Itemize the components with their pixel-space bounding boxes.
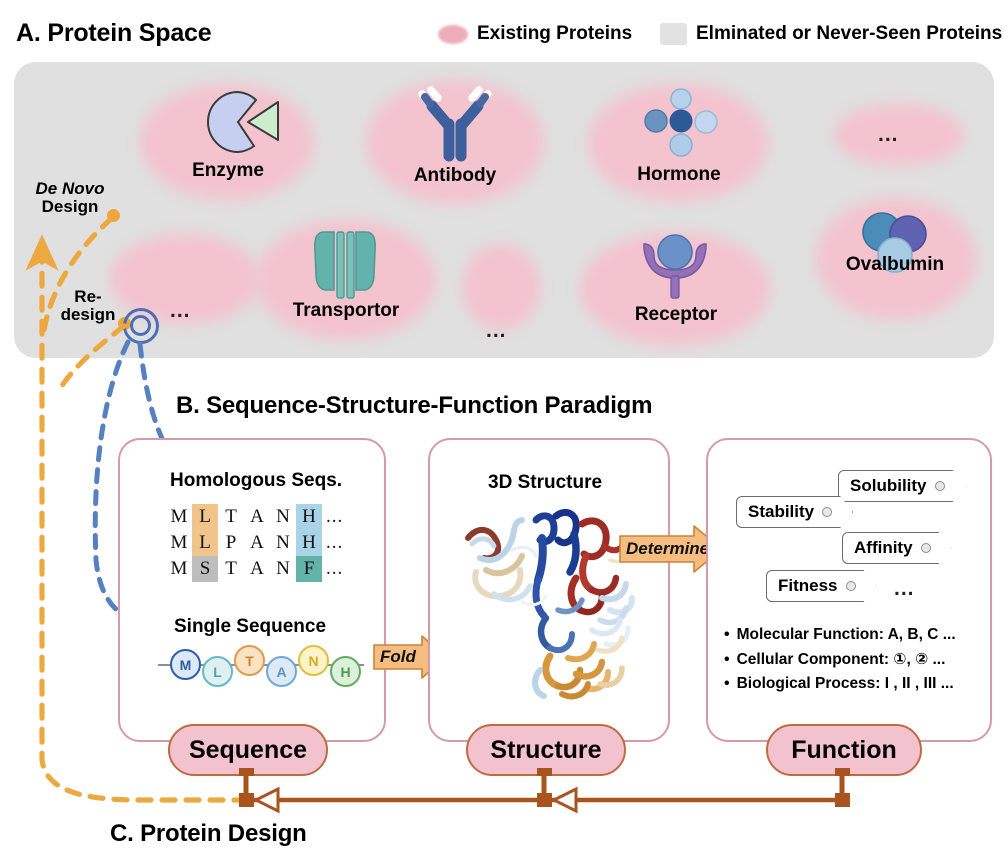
structure-panel-title: 3D Structure <box>488 472 602 494</box>
legend-existing-label: Existing Proteins <box>477 23 632 45</box>
panel-a-title: A. Protein Space <box>16 19 211 48</box>
panel-c-title: C. Protein Design <box>110 820 307 848</box>
antibody-icon <box>416 86 494 164</box>
alignment-trailing: ... <box>326 506 343 528</box>
hormone-icon <box>634 88 728 160</box>
alignment-cell: T <box>218 504 244 530</box>
single-sequence-beads: M L T A N H <box>158 645 368 687</box>
alignment-cell-highlight: L <box>192 530 218 556</box>
alignment-cell: M <box>166 556 192 582</box>
protein-label-receptor: Receptor <box>580 304 772 326</box>
single-sequence-title: Single Sequence <box>174 616 326 638</box>
ellipsis-right: ... <box>878 124 899 145</box>
bullet-dot-icon: • <box>724 627 730 643</box>
node-function[interactable]: Function <box>766 724 922 776</box>
alignment-cell: N <box>270 530 296 556</box>
node-sequence[interactable]: Sequence <box>168 724 328 776</box>
alignment-trailing: ... <box>326 532 343 554</box>
node-sequence-label: Sequence <box>189 736 307 765</box>
legend-pink-blob-swatch <box>438 25 468 44</box>
transporter-icon <box>304 226 386 304</box>
ellipsis-mid: ... <box>486 320 507 341</box>
junction-function <box>835 793 850 807</box>
bead-A: A <box>266 656 297 687</box>
tag-hole-icon <box>822 507 832 517</box>
protein-design-figure: A. Protein Space Existing Proteins Elmin… <box>0 0 1008 864</box>
ellipsis-redesign: ... <box>170 300 191 321</box>
tag-hole-icon <box>935 481 945 491</box>
function-tag-solubility-label: Solubility <box>850 476 927 496</box>
function-bullet-label: Molecular Function: A, B, C ... <box>737 626 956 644</box>
alignment-row-3: M S T A N F ... <box>166 556 343 582</box>
de-novo-design-label-line2: Design <box>42 197 99 216</box>
fold-arrow-label: Fold <box>380 647 416 667</box>
alignment-cell: M <box>166 530 192 556</box>
node-structure-label: Structure <box>490 736 601 765</box>
protein-label-antibody: Antibody <box>366 165 544 187</box>
bead-T: T <box>234 645 265 676</box>
protein-label-transporter: Transportor <box>256 300 436 322</box>
redesign-label: Re- design <box>56 288 120 324</box>
alignment-cell-highlight: H <box>296 504 322 530</box>
legend-existing-proteins: Existing Proteins <box>438 23 632 45</box>
bullet-dot-icon: • <box>724 676 730 692</box>
redesign-marker-ring-inner <box>130 315 151 336</box>
legend-eliminated-proteins: Elminated or Never-Seen Proteins <box>660 23 1002 45</box>
alignment-cell: A <box>244 530 270 556</box>
homologous-seqs-title: Homologous Seqs. <box>170 470 342 492</box>
alignment-cell: A <box>244 556 270 582</box>
function-tag-fitness-label: Fitness <box>778 576 838 596</box>
redesign-label-line2: design <box>61 305 116 324</box>
alignment-cell: T <box>218 556 244 582</box>
protein-label-hormone: Hormone <box>588 164 770 186</box>
node-function-label: Function <box>791 736 897 765</box>
function-tag-fitness[interactable]: Fitness <box>766 570 877 602</box>
bead-N: N <box>298 645 329 676</box>
de-novo-design-label: De Novo Design <box>22 180 118 216</box>
alignment-cell: P <box>218 530 244 556</box>
tag-hole-icon <box>921 543 931 553</box>
alignment-row-1: M L T A N H ... <box>166 504 343 530</box>
blob-ellipsis-mid <box>462 244 540 330</box>
alignment-trailing: ... <box>326 558 343 580</box>
legend-gray-square-swatch <box>660 23 687 45</box>
alignment-cell: A <box>244 504 270 530</box>
function-bullet-list: • Molecular Function: A, B, C ... • Cell… <box>724 626 956 699</box>
blob-ellipsis-right <box>834 104 964 166</box>
tag-hole-icon <box>846 581 856 591</box>
alignment-cell-highlight: H <box>296 530 322 556</box>
determine-arrow-label: Determine <box>626 539 709 559</box>
protein-label-ovalbumin: Ovalbumin <box>814 254 976 276</box>
function-bullet-label: Biological Process: I , II , III ... <box>737 675 954 693</box>
receptor-icon <box>634 230 716 312</box>
de-novo-design-label-line1: De Novo <box>36 179 105 198</box>
function-tag-solubility[interactable]: Solubility <box>838 470 966 502</box>
redesign-label-line1: Re- <box>74 287 101 306</box>
de-novo-design-marker-dot <box>107 209 120 222</box>
alignment-row-2: M L P A N H ... <box>166 530 343 556</box>
alignment-cell: N <box>270 504 296 530</box>
feedback-arrowhead-sequence <box>256 789 278 811</box>
panel-b-title: B. Sequence-Structure-Function Paradigm <box>176 392 652 420</box>
node-structure[interactable]: Structure <box>466 724 626 776</box>
function-bullet-item: • Molecular Function: A, B, C ... <box>724 626 956 644</box>
function-bullet-item: • Cellular Component: ①, ② ... <box>724 650 956 669</box>
legend-eliminated-label: Elminated or Never-Seen Proteins <box>696 23 1002 45</box>
bead-H: H <box>330 656 361 687</box>
protein-space-canvas: Enzyme Antibody <box>14 62 994 358</box>
function-tags-ellipsis: ... <box>894 578 915 599</box>
alignment-cell-highlight: F <box>296 556 322 582</box>
protein-label-enzyme: Enzyme <box>140 160 316 182</box>
function-tag-affinity[interactable]: Affinity <box>842 532 952 564</box>
sequence-alignment: M L T A N H ... M L P A N H ... M S T A … <box>166 504 343 582</box>
function-tag-stability[interactable]: Stability <box>736 496 853 528</box>
junction-structure <box>537 793 552 807</box>
function-bullet-item: • Biological Process: I , II , III ... <box>724 675 956 693</box>
alignment-cell-highlight: L <box>192 504 218 530</box>
function-tag-affinity-label: Affinity <box>854 538 913 558</box>
bead-M: M <box>170 649 201 680</box>
alignment-cell-highlight: S <box>192 556 218 582</box>
enzyme-icon <box>192 86 284 158</box>
feedback-arrowhead-structure <box>554 789 576 811</box>
alignment-cell: N <box>270 556 296 582</box>
junction-sequence <box>239 793 254 807</box>
function-tag-stability-label: Stability <box>748 502 814 522</box>
bullet-dot-icon: • <box>724 652 730 668</box>
alignment-cell: M <box>166 504 192 530</box>
bead-L: L <box>202 656 233 687</box>
function-bullet-label: Cellular Component: ①, ② ... <box>737 650 946 669</box>
